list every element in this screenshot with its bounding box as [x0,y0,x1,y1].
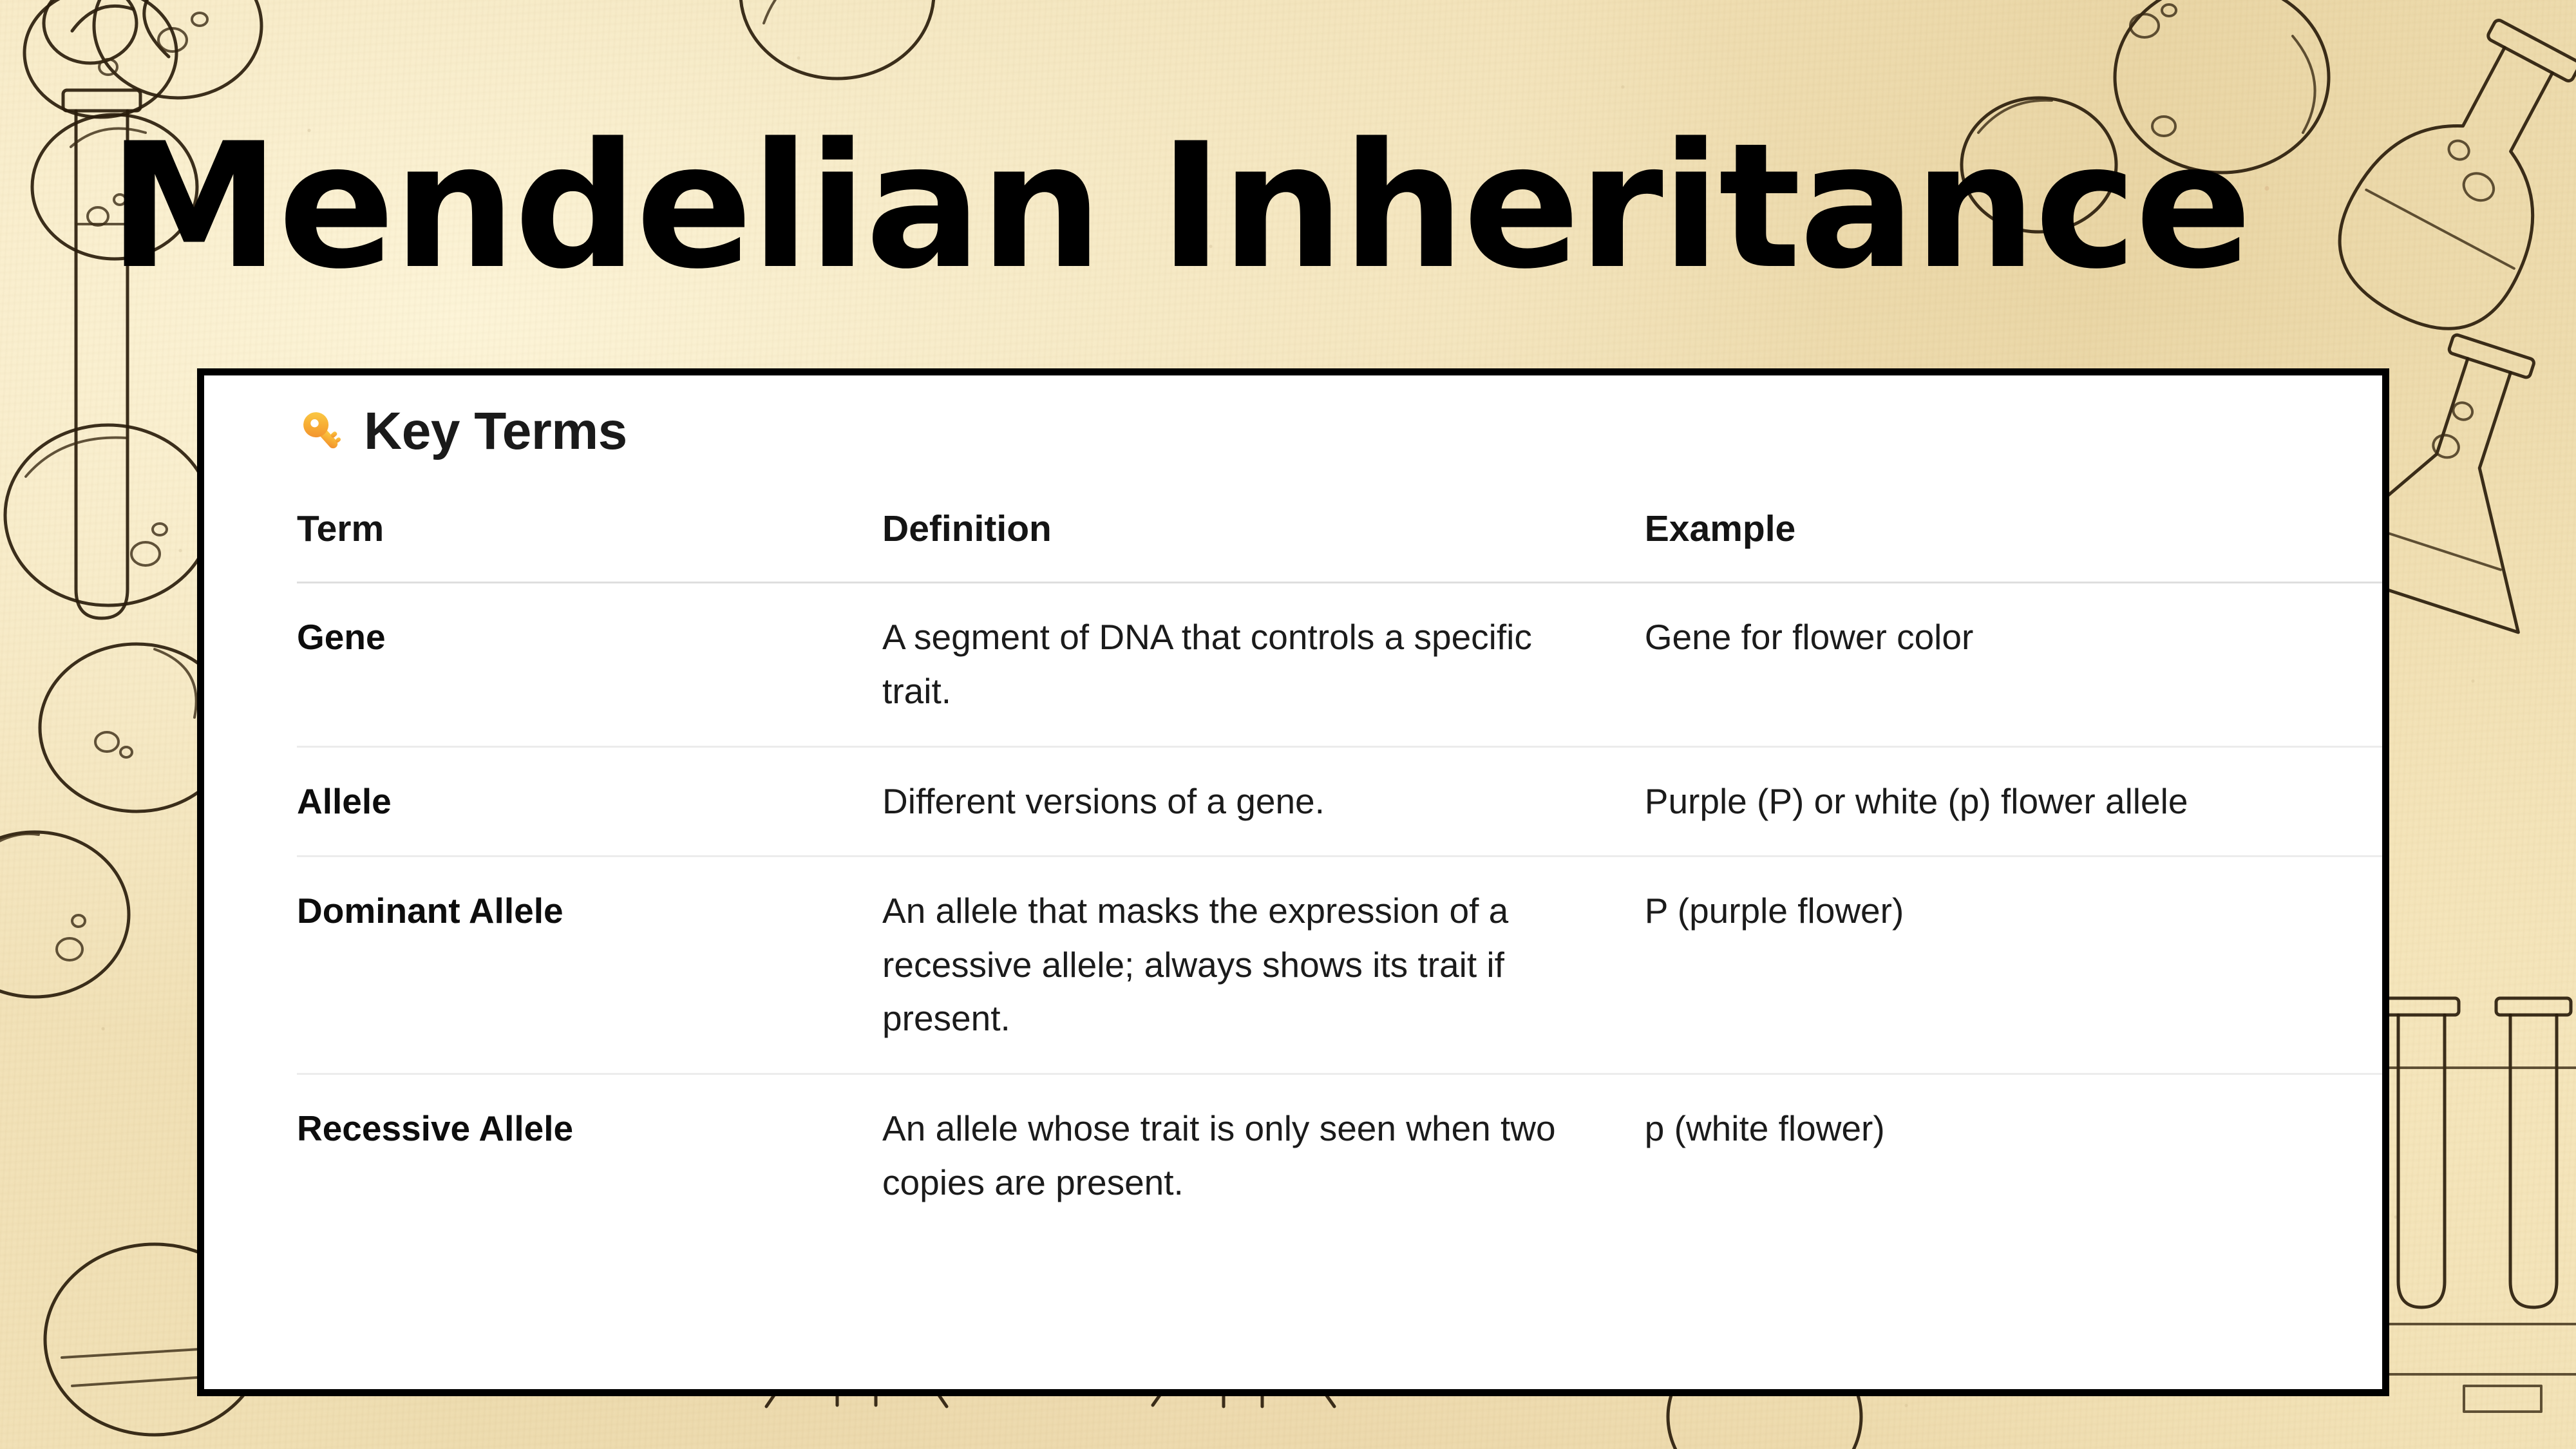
cell-term: Allele [297,746,882,857]
card-heading: Key Terms [297,405,2346,458]
table-row: Dominant Allele An allele that masks the… [297,857,2389,1074]
cell-definition: An allele whose trait is only seen when … [882,1074,1645,1236]
cell-example: Purple (P) or white (p) flower allele [1645,746,2389,857]
bubble-icon [0,832,129,997]
cell-definition: Different versions of a gene. [882,746,1645,857]
key-icon [297,406,347,457]
cell-example: p (white flower) [1645,1074,2389,1236]
bubble-icon [741,0,934,79]
cell-term: Gene [297,583,882,746]
slide-canvas: Mendelian Inheritance [0,0,2576,1449]
cell-definition: An allele that masks the expression of a… [882,857,1645,1074]
card-heading-label: Key Terms [364,405,627,458]
cell-term: Dominant Allele [297,857,882,1074]
table-header-row: Term Definition Example [297,507,2389,583]
column-header-example: Example [1645,507,2389,583]
bubble-icon [24,0,176,117]
cell-example: Gene for flower color [1645,583,2389,746]
table-row: Allele Different versions of a gene. Pur… [297,746,2389,857]
bubble-icon [5,425,211,605]
column-header-term: Term [297,507,882,583]
table-row: Recessive Allele An allele whose trait i… [297,1074,2389,1236]
round-flask-icon [2313,0,2576,355]
key-terms-card: Key Terms Term Definition Example Gene [197,368,2389,1396]
cell-example: P (purple flower) [1645,857,2389,1074]
bubble-icon [44,0,137,63]
column-header-definition: Definition [882,507,1645,583]
cell-definition: A segment of DNA that controls a specifi… [882,583,1645,746]
cell-term: Recessive Allele [297,1074,882,1236]
table-row: Gene A segment of DNA that controls a sp… [297,583,2389,746]
page-title: Mendelian Inheritance [108,117,2250,297]
key-terms-table: Term Definition Example Gene A segment o… [297,507,2389,1236]
